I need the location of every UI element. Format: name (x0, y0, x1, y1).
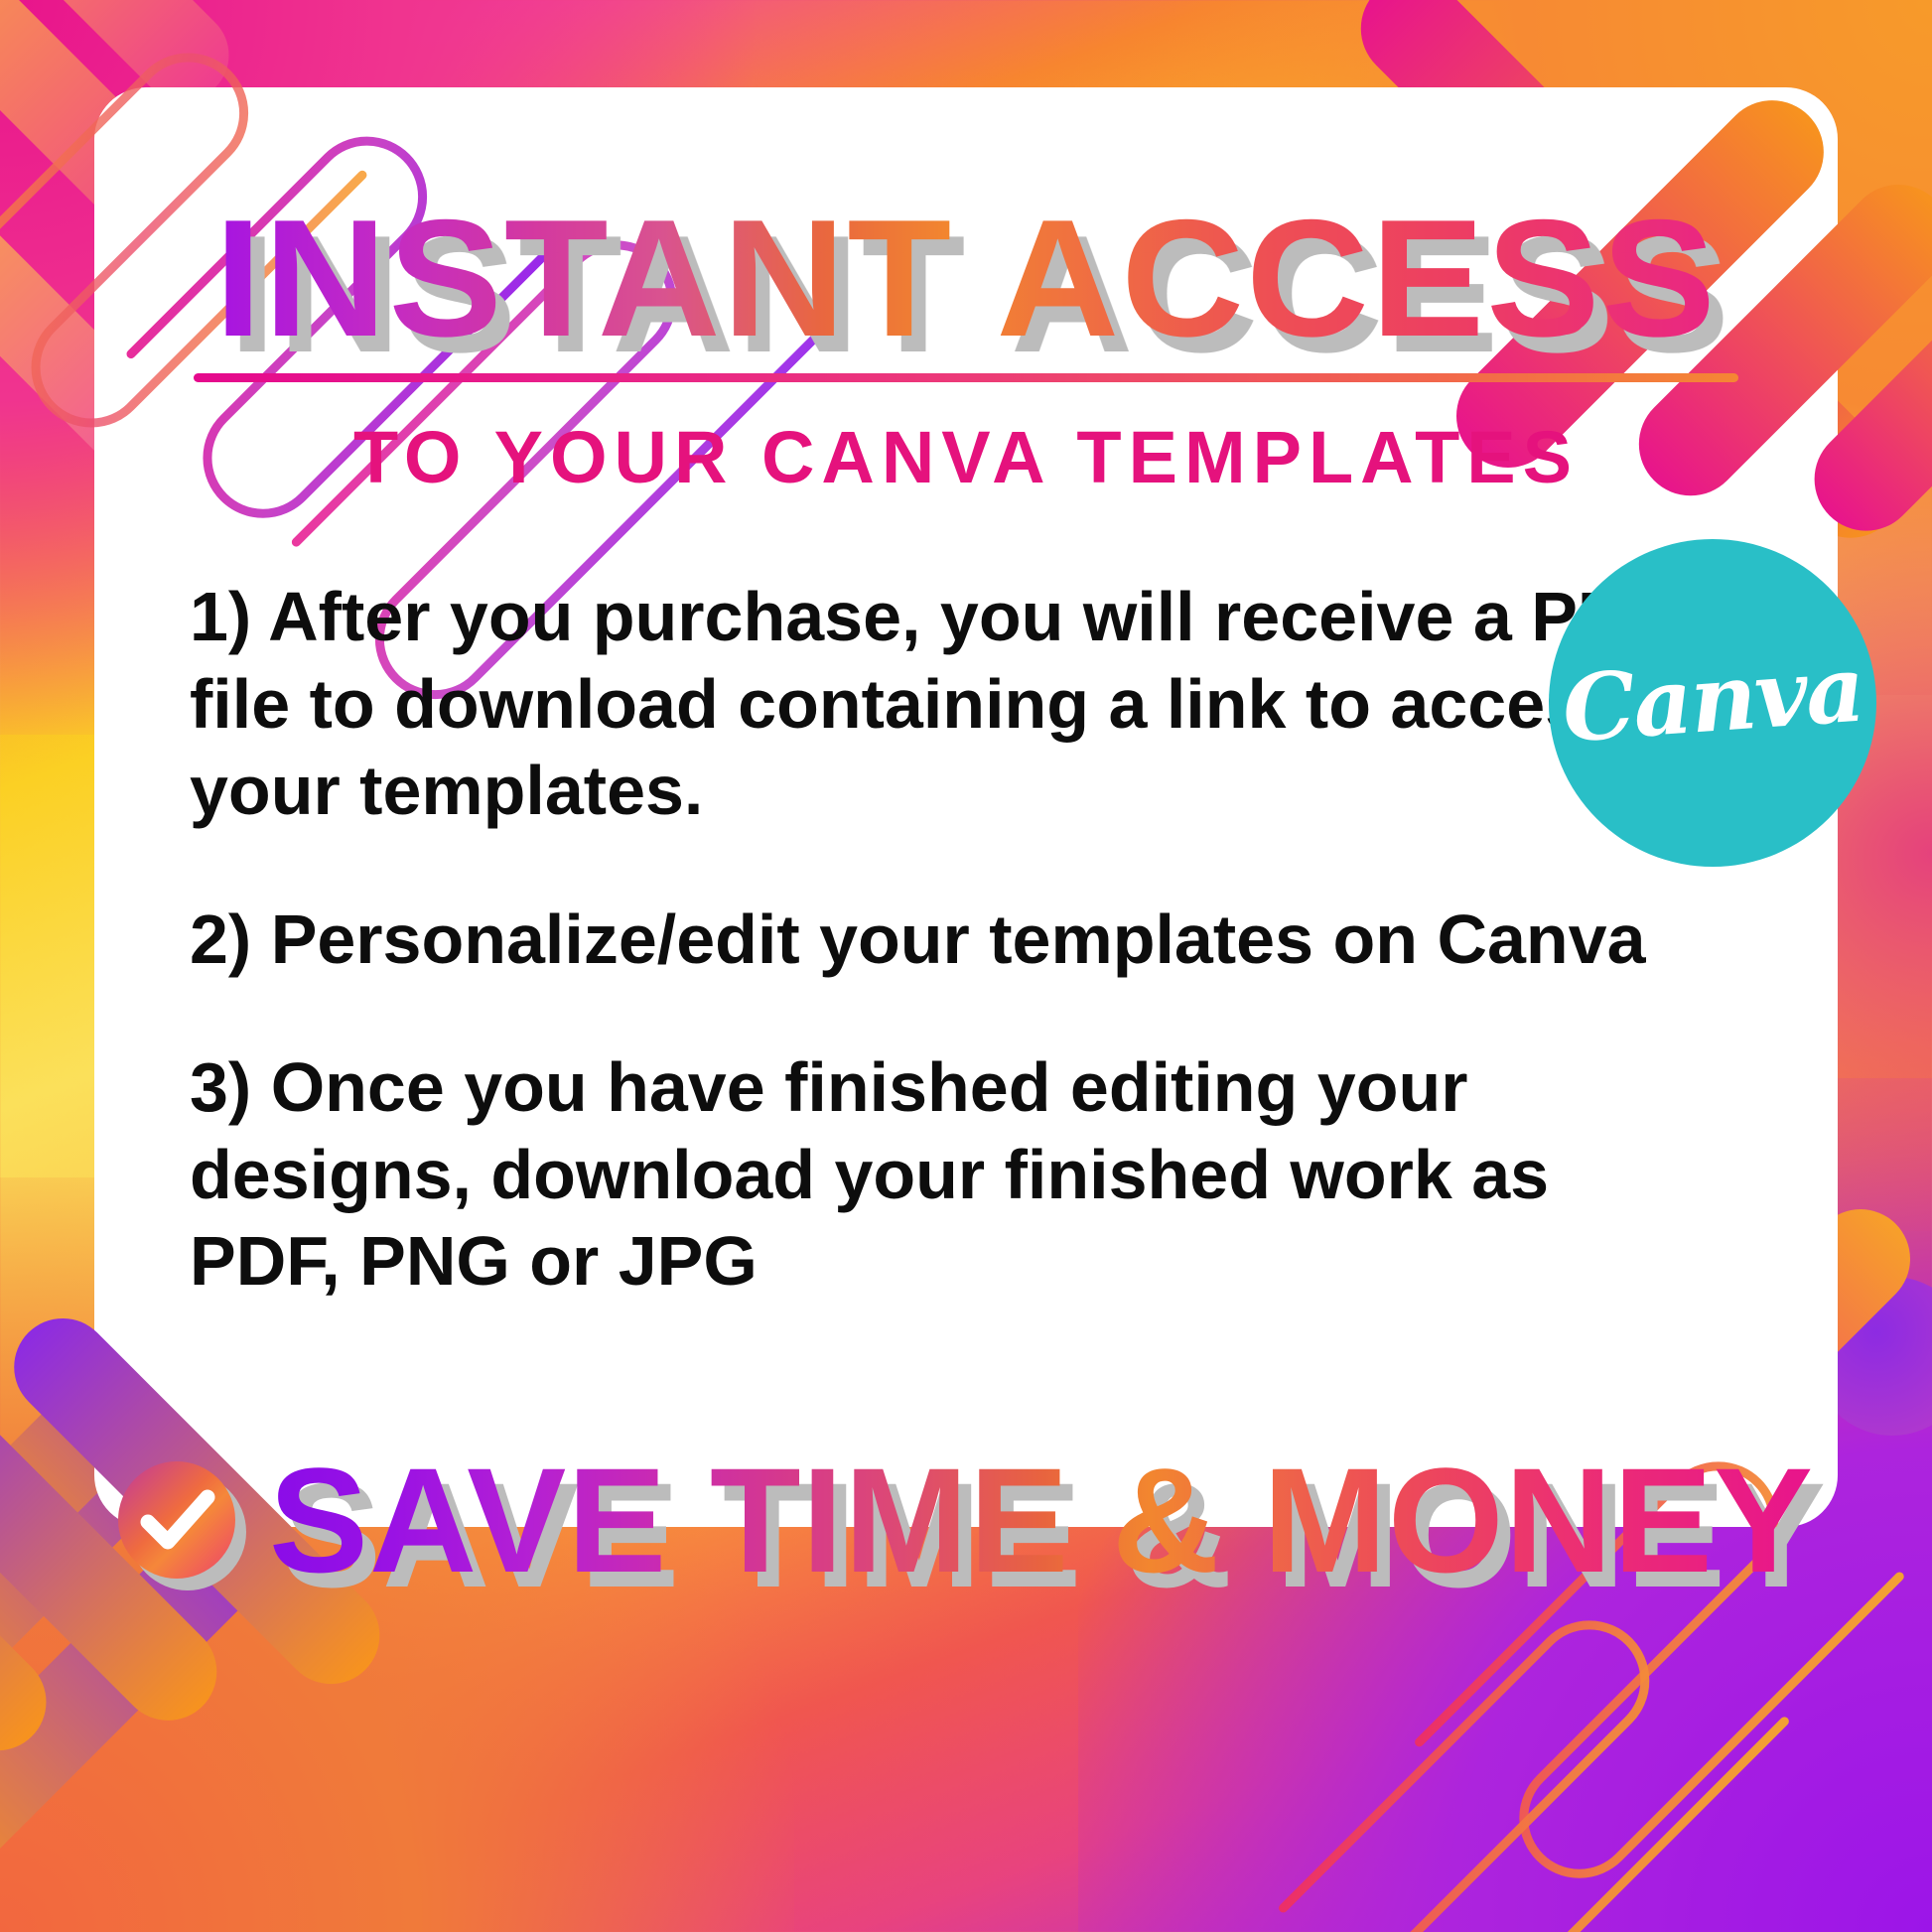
list-item: 1) After you purchase, you will receive … (190, 574, 1679, 835)
list-item: 3) Once you have finished editing your d… (190, 1044, 1679, 1306)
page-title: INSTANT ACCESS (76, 195, 1855, 361)
canva-logo-icon: Canva (1549, 539, 1876, 867)
card-content: INSTANT ACCESS TO YOUR CANVA TEMPLATES 1… (94, 87, 1838, 1527)
banner-text: SAVE TIME & MONEY (269, 1446, 1814, 1594)
save-time-money-banner: SAVE TIME & MONEY (0, 1436, 1932, 1604)
list-item: 2) Personalize/edit your templates on Ca… (190, 897, 1679, 984)
title-divider (194, 373, 1738, 382)
canva-logo-label: Canva (1559, 635, 1866, 763)
page-subtitle: TO YOUR CANVA TEMPLATES (94, 415, 1838, 499)
steps-list: 1) After you purchase, you will receive … (190, 574, 1679, 1306)
check-circle-icon (118, 1461, 235, 1579)
